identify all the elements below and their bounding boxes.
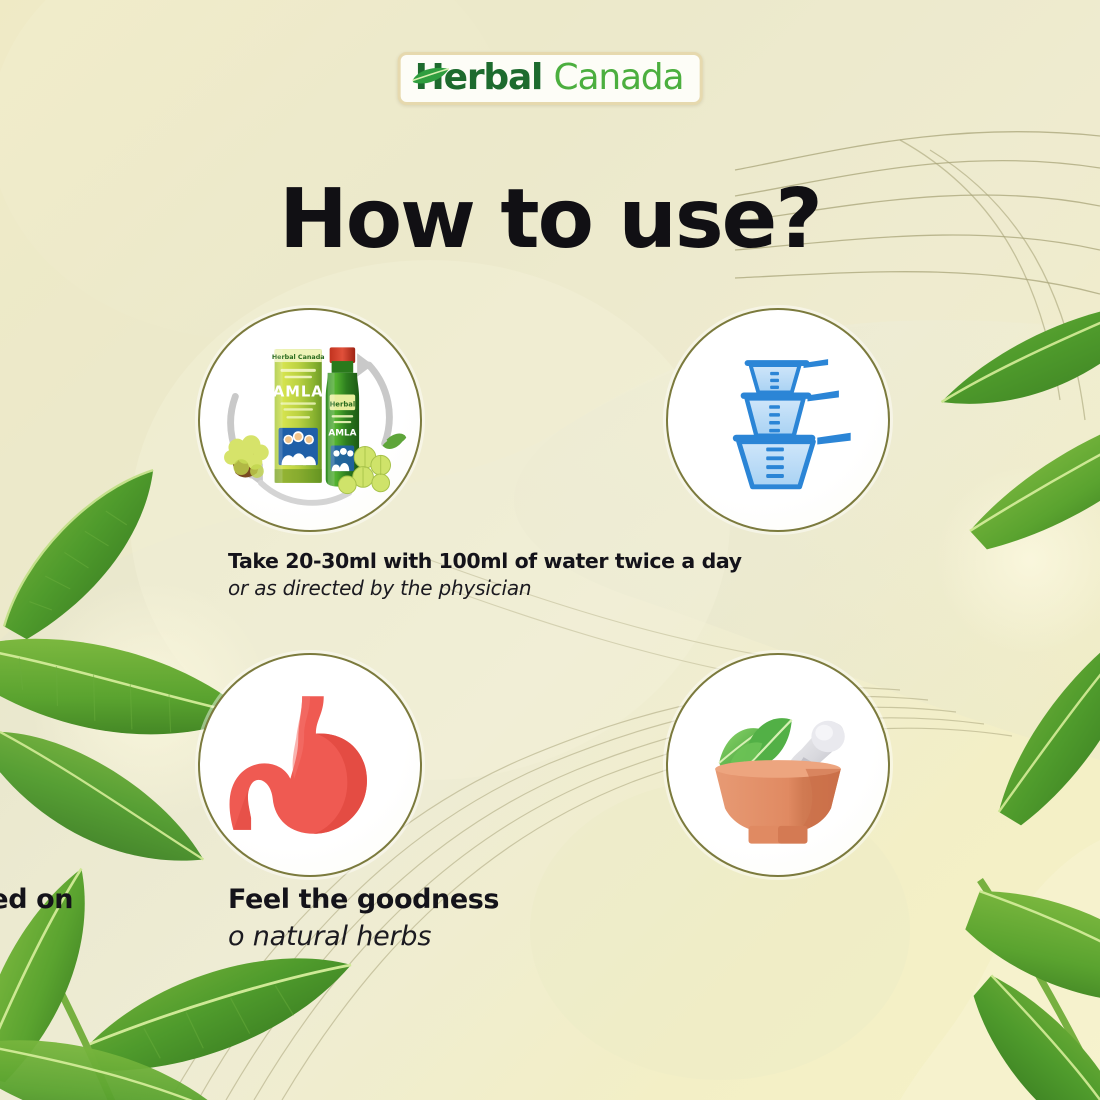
- measuring-cups-icon: [668, 308, 888, 532]
- logo-canada-label: Canada: [554, 57, 684, 98]
- measuring-cup-large: [733, 433, 851, 487]
- stomach-icon: [200, 653, 420, 877]
- poster-canvas: Herbal Canada How to use?: [0, 0, 1100, 1100]
- steps-grid: Herbal Canada AMLA: [0, 0, 1100, 1100]
- leaf-icon: [411, 66, 451, 86]
- logo-herbal-text: Herbal: [415, 57, 554, 98]
- empty-stomach-icon-circle: [198, 653, 422, 877]
- mortar: [715, 760, 841, 843]
- shake-well-icon-circle: Herbal Canada AMLA: [198, 308, 422, 532]
- brand-logo: Herbal Canada: [398, 52, 703, 105]
- mortar-and-pestle-icon: [668, 653, 888, 877]
- dosage-icon-circle: [666, 308, 890, 532]
- measuring-cup-medium: [741, 391, 839, 436]
- natural-herbs-icon-circle: [666, 653, 890, 877]
- measuring-cup-small: [745, 359, 828, 392]
- amla-juice-bottle-shake-icon: Herbal Canada AMLA: [200, 308, 420, 532]
